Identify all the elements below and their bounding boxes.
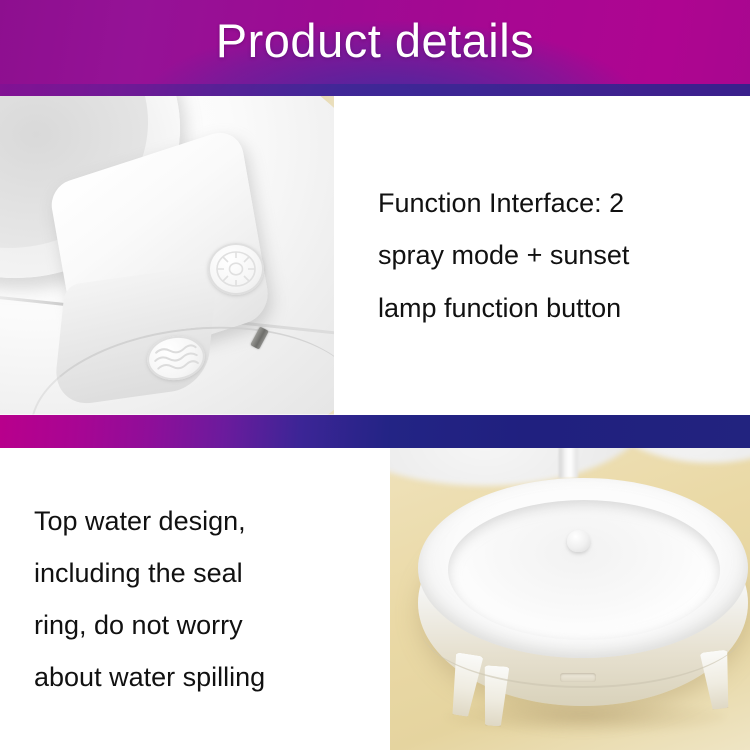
water-tank-inner-well [448,500,720,640]
product-photo-control-panel [0,96,334,415]
page-title: Product details [0,9,750,72]
caption-panel-one: Function Interface: 2 spray mode + sunse… [334,96,750,415]
mist-waves-icon[interactable] [144,332,208,384]
caption-line: lamp function button [378,282,629,335]
caption-line: about water spilling [34,651,265,703]
humidifier-stem [559,448,578,478]
product-details-page: Product details [0,0,750,750]
section-divider-band [0,415,750,448]
base-switch-slot [560,673,596,682]
caption-one-text: Function Interface: 2 spray mode + sunse… [334,177,639,335]
caption-line: Top water design, [34,495,265,547]
caption-line: ring, do not worry [34,599,265,651]
product-photo-water-tank [390,448,750,750]
caption-line: including the seal [34,547,265,599]
caption-panel-two: Top water design, including the seal rin… [0,448,390,750]
header-banner: Product details [0,0,750,96]
sunburst-icon[interactable] [208,243,264,295]
caption-two-text: Top water design, including the seal rin… [0,495,271,703]
caption-line: spray mode + sunset [378,229,629,282]
section-control-panel: Function Interface: 2 spray mode + sunse… [0,96,750,415]
caption-line: Function Interface: 2 [378,177,629,230]
mist-nozzle-nub [567,530,590,552]
section-top-water-design: Top water design, including the seal rin… [0,448,750,750]
